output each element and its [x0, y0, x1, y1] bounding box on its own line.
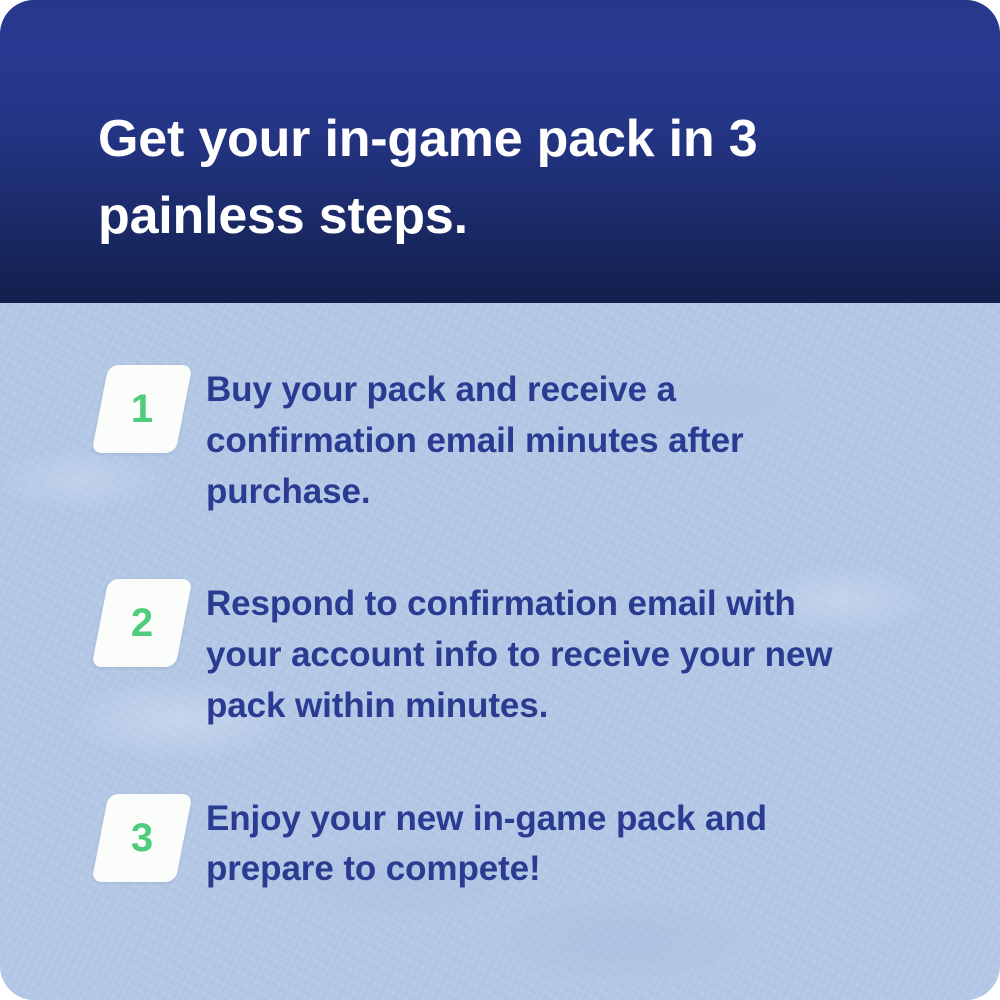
list-item: 1 Buy your pack and receive a confirmati… [0, 361, 1000, 517]
list-item: 3 Enjoy your new in-game pack and prepar… [0, 790, 1000, 896]
step-number-badge: 2 [100, 579, 184, 667]
promo-card: Get your in-game pack in 3 painless step… [0, 0, 1000, 1000]
steps-list: 1 Buy your pack and receive a confirmati… [0, 303, 1000, 895]
step-number: 2 [100, 579, 184, 667]
step-number-badge: 3 [100, 794, 184, 882]
list-item: 2 Respond to confirmation email with you… [0, 575, 1000, 731]
page-title: Get your in-game pack in 3 painless step… [98, 101, 878, 255]
step-number-badge: 1 [100, 365, 184, 453]
card-header: Get your in-game pack in 3 painless step… [0, 0, 1000, 303]
step-number: 1 [100, 365, 184, 453]
step-description: Enjoy your new in-game pack and prepare … [206, 790, 866, 896]
step-description: Buy your pack and receive a confirmation… [206, 361, 866, 517]
step-description: Respond to confirmation email with your … [206, 575, 866, 731]
step-number: 3 [100, 794, 184, 882]
